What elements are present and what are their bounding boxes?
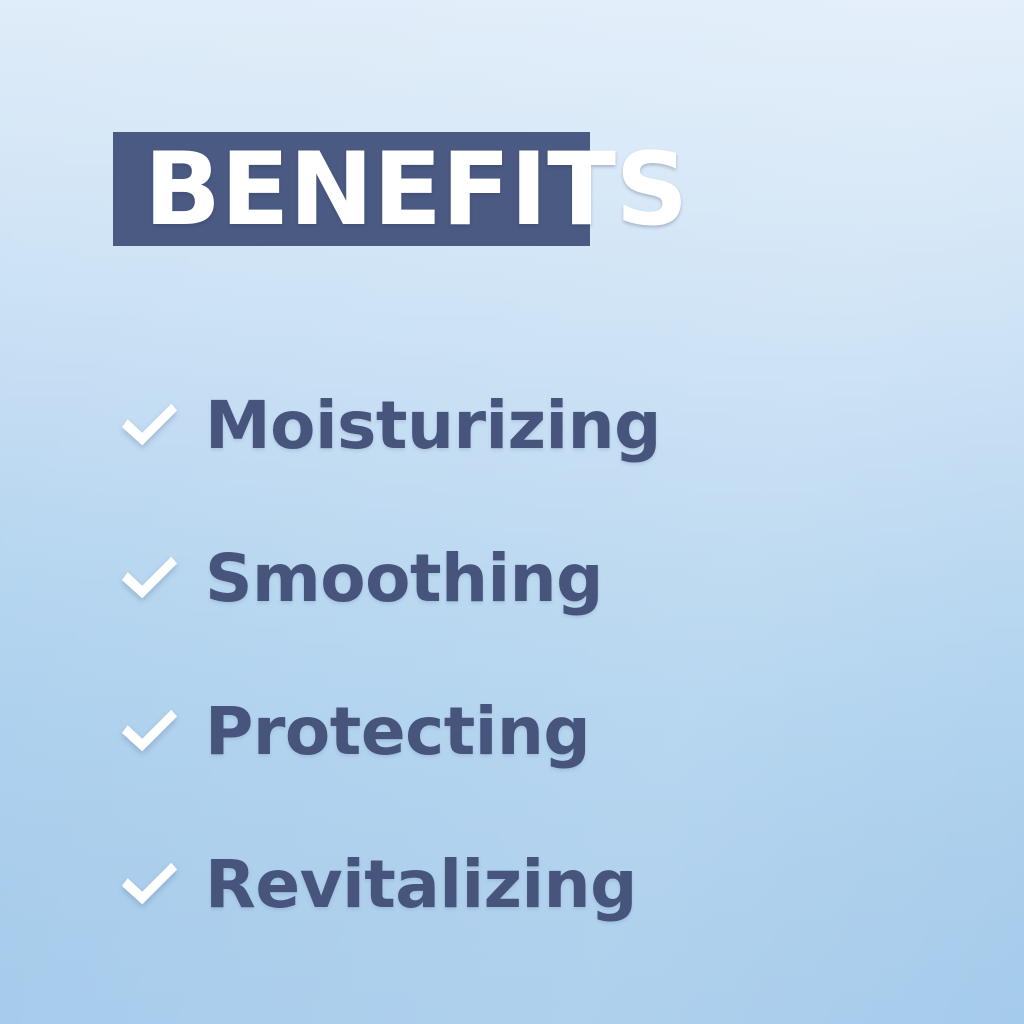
benefits-list: Moisturizing Smoothing Protecting [113, 381, 973, 930]
list-item: Revitalizing [113, 840, 973, 930]
benefit-label: Moisturizing [205, 393, 661, 459]
benefits-poster: BENEFITS Moisturizing Smoothing [0, 0, 1024, 1024]
list-item: Moisturizing [113, 381, 973, 471]
check-icon [113, 696, 185, 768]
title-banner: BENEFITS [113, 132, 590, 246]
check-icon [113, 543, 185, 615]
benefit-label: Revitalizing [205, 852, 637, 918]
check-icon [113, 390, 185, 462]
list-item: Protecting [113, 687, 973, 777]
benefit-label: Smoothing [205, 546, 603, 612]
check-icon [113, 849, 185, 921]
list-item: Smoothing [113, 534, 973, 624]
benefit-label: Protecting [205, 699, 590, 765]
page-title: BENEFITS [144, 139, 688, 240]
